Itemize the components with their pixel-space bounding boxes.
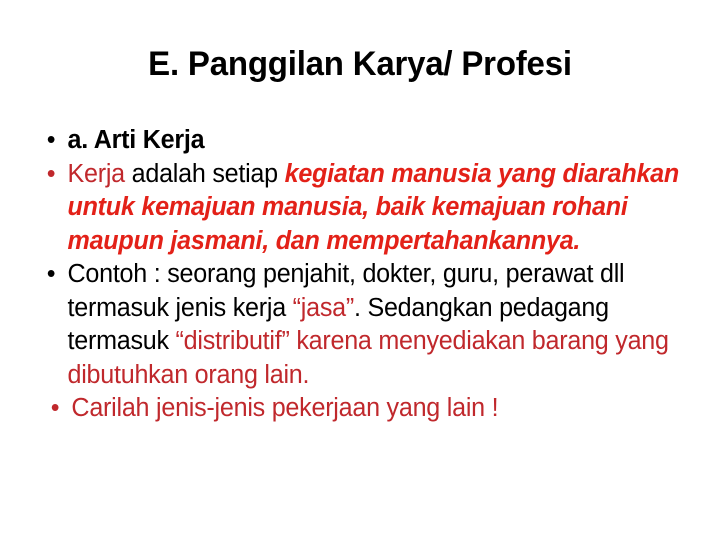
list-item: •Carilah jenis-jenis pekerjaan yang lain… xyxy=(34,392,696,426)
bullet-dot-icon: • xyxy=(47,124,56,158)
bullet-list: •a. Arti Kerja•Kerja adalah setiap kegia… xyxy=(34,124,706,426)
bullet-dot-icon: • xyxy=(47,258,56,292)
bullet-dot-icon: • xyxy=(47,158,56,192)
text-run: adalah setiap xyxy=(132,160,285,188)
list-item-text: Contoh : seorang penjahit, dokter, guru,… xyxy=(67,260,668,389)
list-item-text: Carilah jenis-jenis pekerjaan yang lain … xyxy=(71,394,498,422)
page-title: E. Panggilan Karya/ Profesi xyxy=(50,44,671,85)
list-item: •a. Arti Kerja xyxy=(34,124,696,158)
list-item-text: Kerja adalah setiap kegiatan manusia yan… xyxy=(67,160,679,255)
text-run: “jasa” xyxy=(293,294,354,322)
text-run: a. Arti Kerja xyxy=(67,126,204,154)
list-item: •Contoh : seorang penjahit, dokter, guru… xyxy=(34,258,696,392)
slide-canvas: E. Panggilan Karya/ Profesi •a. Arti Ker… xyxy=(0,0,720,540)
bullet-dot-icon: • xyxy=(51,392,60,426)
list-item: •Kerja adalah setiap kegiatan manusia ya… xyxy=(34,158,696,259)
text-run: Carilah jenis-jenis pekerjaan yang lain … xyxy=(71,394,498,422)
list-item-text: a. Arti Kerja xyxy=(67,126,204,154)
text-run: Kerja xyxy=(67,160,131,188)
